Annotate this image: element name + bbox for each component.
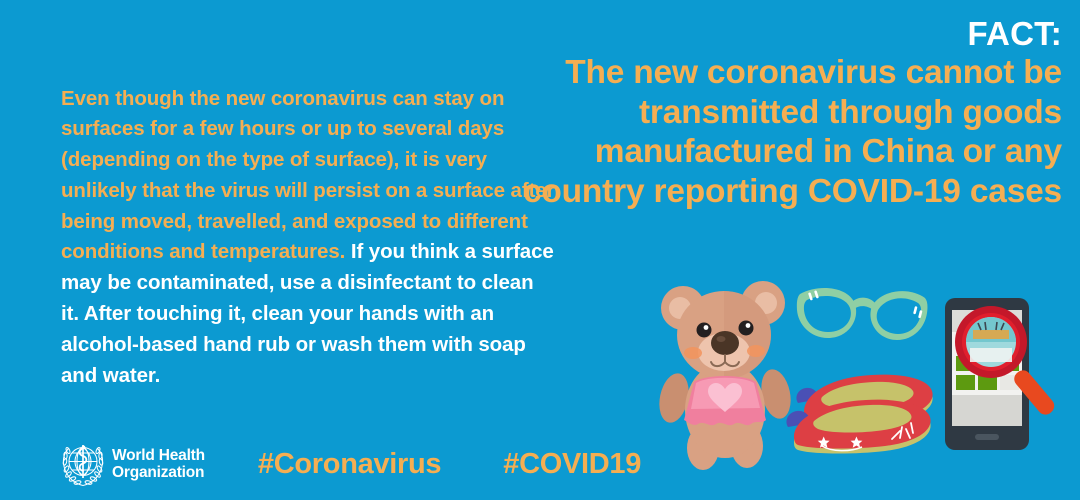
who-wordmark: World Health Organization — [112, 447, 205, 482]
who-covid-fact-infographic: Even though the new coronavirus can stay… — [0, 0, 1080, 500]
hashtag-covid19: #COVID19 — [503, 448, 641, 481]
body-copy-highlighted: Even though the new coronavirus can stay… — [61, 87, 555, 264]
body-copy: Even though the new coronavirus can stay… — [61, 84, 556, 392]
footer: World Health Organization #Coronavirus #… — [58, 436, 641, 492]
illustration-group — [640, 262, 1070, 492]
teddy-bear-icon — [650, 270, 800, 470]
eyeglasses-icon — [790, 272, 935, 367]
who-logo: World Health Organization — [58, 439, 205, 489]
headline-block: FACT: The new coronavirus cannot be tran… — [502, 16, 1062, 211]
smartphone-magnifier-icon — [925, 292, 1070, 457]
who-emblem-icon — [58, 439, 108, 489]
fact-label: FACT: — [502, 16, 1062, 52]
headline-statement: The new coronavirus cannot be transmitte… — [502, 53, 1062, 211]
who-wordmark-line1: World Health — [112, 447, 205, 465]
hashtag-coronavirus: #Coronavirus — [258, 448, 441, 481]
who-wordmark-line2: Organization — [112, 464, 205, 482]
